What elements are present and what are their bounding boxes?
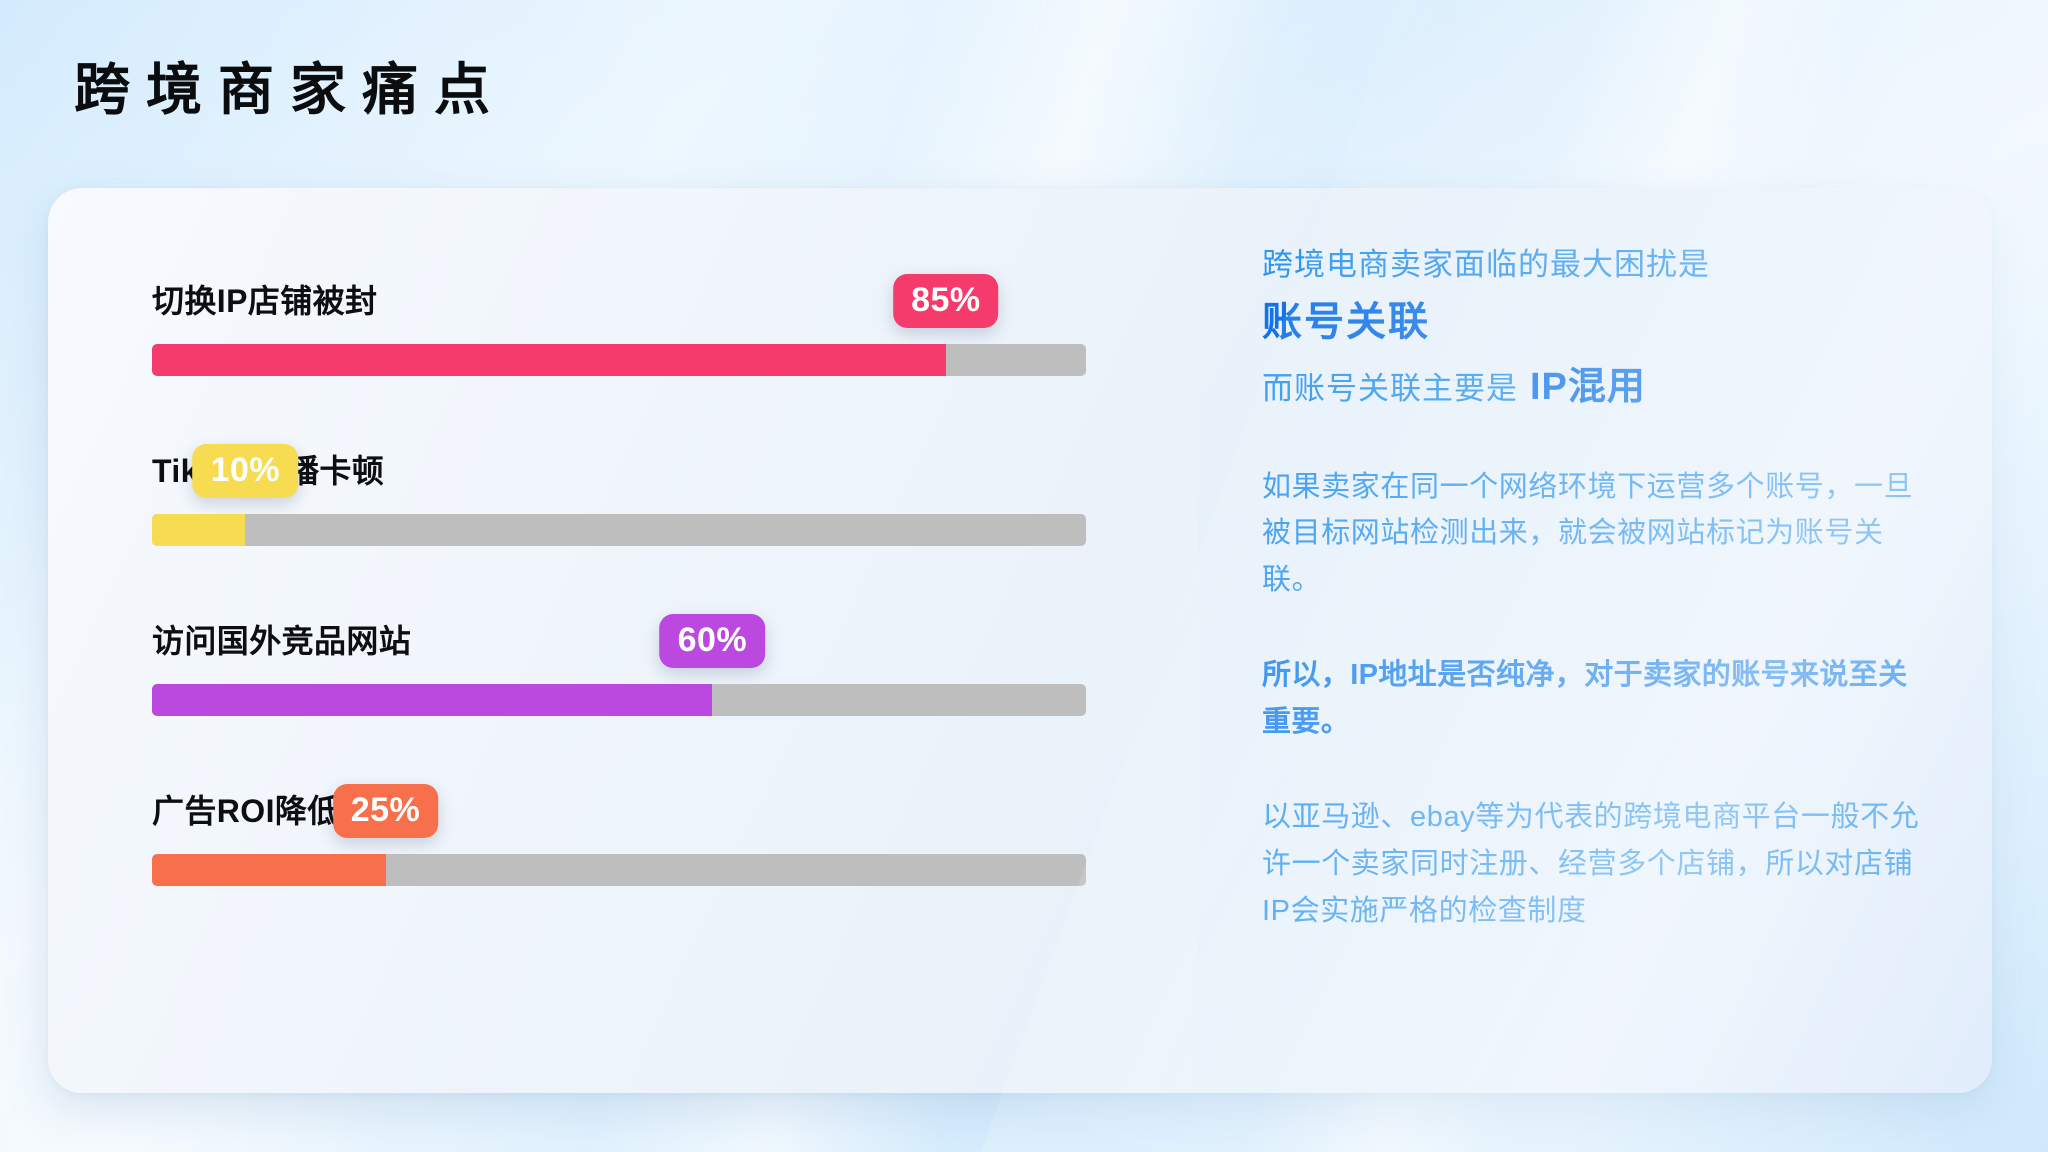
slide-background: 跨境商家痛点 切换IP店铺被封 85%: [0, 0, 2048, 1152]
paragraph-one: 如果卖家在同一个网络环境下运营多个账号，一旦被目标网站检测出来，就会被网站标记为…: [1262, 464, 1926, 605]
lead-keyword: 账号关联: [1262, 295, 1926, 349]
bar-value-badge: 10%: [193, 444, 299, 498]
bar-track: [152, 514, 1086, 546]
explanation-body: 跨境电商卖家面临的最大困扰是 账号关联 而账号关联主要是IP混用 如果卖家在同一…: [1262, 242, 1926, 935]
bar-row: 访问国外竞品网站 60%: [104, 592, 1146, 762]
bar-fill: [152, 854, 386, 886]
lead-secondary-prefix: 而账号关联主要是: [1262, 371, 1518, 406]
explanation-panel: 跨境电商卖家面临的最大困扰是 账号关联 而账号关联主要是IP混用 如果卖家在同一…: [1198, 188, 1992, 1093]
page-title: 跨境商家痛点: [74, 62, 506, 118]
content-card: 切换IP店铺被封 85% TikTok直播卡顿 10%: [48, 188, 1992, 1093]
bar-value-badge: 60%: [660, 614, 766, 668]
lead-secondary-highlight: IP混用: [1530, 366, 1646, 408]
bar-row: 切换IP店铺被封 85%: [104, 252, 1146, 422]
bar-row: 广告ROI降低 25%: [104, 762, 1146, 932]
bar-value-badge: 25%: [333, 784, 439, 838]
paragraph-three: 以亚马逊、ebay等为代表的跨境电商平台一般不允许一个卖家同时注册、经营多个店铺…: [1262, 794, 1926, 935]
bar-track: [152, 684, 1086, 716]
paragraph-two: 所以，IP地址是否纯净，对于卖家的账号来说至关重要。: [1262, 652, 1926, 746]
pain-point-bar-chart: 切换IP店铺被封 85% TikTok直播卡顿 10%: [48, 188, 1198, 1093]
lead-secondary-line: 而账号关联主要是IP混用: [1262, 359, 1926, 416]
bar-fill: [152, 514, 245, 546]
bar-label: 广告ROI降低: [152, 786, 340, 832]
bar-track: [152, 854, 1086, 886]
bar-row: TikTok直播卡顿 10%: [104, 422, 1146, 592]
bar-fill: [152, 684, 712, 716]
bar-chart-rows: 切换IP店铺被封 85% TikTok直播卡顿 10%: [104, 252, 1146, 932]
bar-track: [152, 344, 1086, 376]
bar-label: 访问国外竞品网站: [152, 616, 411, 662]
bar-value-badge: 85%: [893, 274, 999, 328]
lead-line: 跨境电商卖家面临的最大困扰是: [1262, 242, 1926, 289]
bar-label: 切换IP店铺被封: [152, 276, 377, 322]
bar-fill: [152, 344, 946, 376]
